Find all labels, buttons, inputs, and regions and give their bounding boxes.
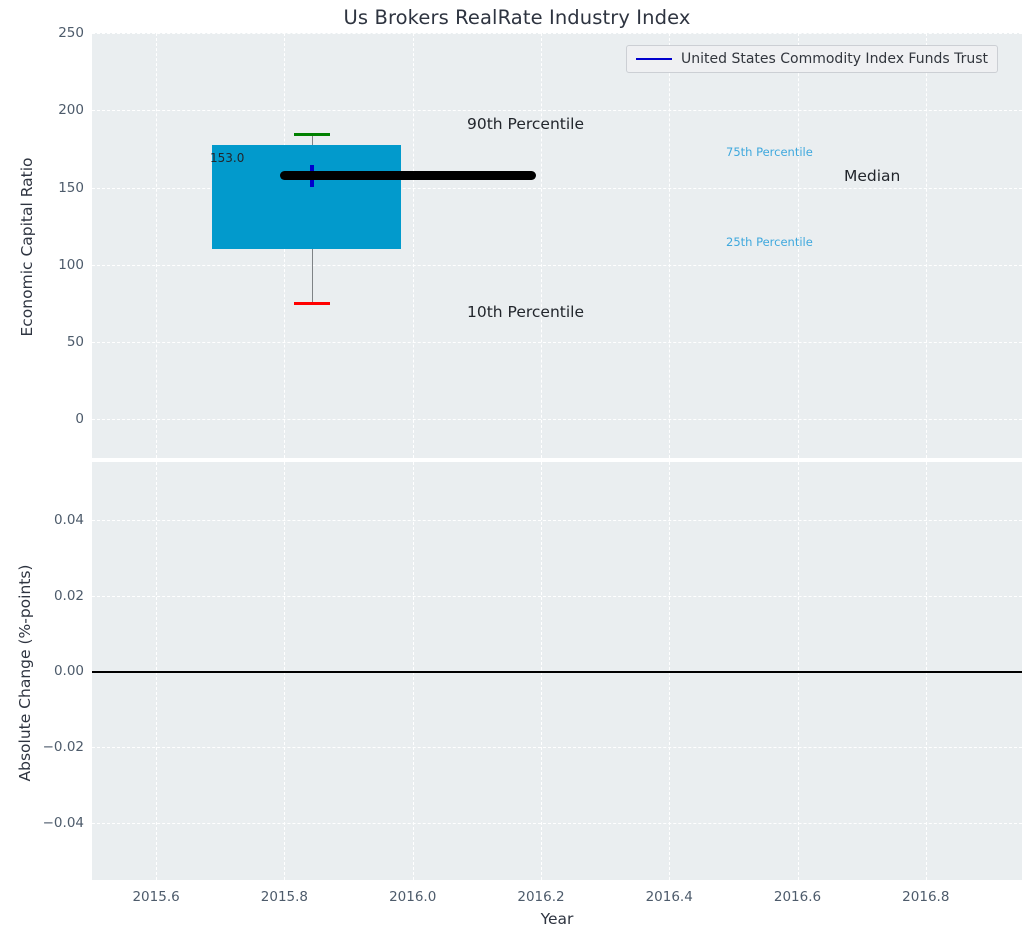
y-tick-label: 150 xyxy=(4,180,84,196)
x-tick-label: 2015.8 xyxy=(239,889,329,905)
y-tick-label: 0.04 xyxy=(4,512,84,528)
gridline-v xyxy=(926,33,927,458)
p25-label: 25th Percentile xyxy=(726,235,813,249)
y-tick-label: −0.04 xyxy=(4,815,84,831)
gridline-h xyxy=(92,419,1022,420)
zero-reference-line xyxy=(92,671,1022,673)
chart-title: Us Brokers RealRate Industry Index xyxy=(0,6,1034,29)
gridline-v xyxy=(541,33,542,458)
y-tick-label: 250 xyxy=(4,25,84,41)
x-tick-label: 2016.8 xyxy=(881,889,971,905)
gridline-h xyxy=(92,265,1022,266)
y-tick-label: 200 xyxy=(4,102,84,118)
legend-line-icon xyxy=(636,58,672,60)
median-label: Median xyxy=(844,167,900,185)
gridline-v xyxy=(669,33,670,458)
y-axis-top: 250 200 150 100 50 0 xyxy=(0,33,84,458)
gridline-h xyxy=(92,823,1022,824)
gridline-h xyxy=(92,110,1022,111)
y-tick-label: 0 xyxy=(4,411,84,427)
p75-label: 75th Percentile xyxy=(726,145,813,159)
gridline-v xyxy=(413,33,414,458)
y-axis-label-bottom: Absolute Change (%-points) xyxy=(16,533,34,813)
y-tick-label: 50 xyxy=(4,334,84,350)
gridline-h xyxy=(92,342,1022,343)
x-tick-label: 2016.4 xyxy=(624,889,714,905)
p90-label: 90th Percentile xyxy=(467,115,584,133)
x-tick-label: 2015.6 xyxy=(111,889,201,905)
value-label: 153.0 xyxy=(210,151,244,165)
p90-cap xyxy=(294,133,330,136)
panel-economic-capital-ratio: 153.0 90th Percentile 10th Percentile Me… xyxy=(92,33,1022,458)
gridline-h xyxy=(92,520,1022,521)
median-line xyxy=(280,171,536,180)
x-tick-label: 2016.0 xyxy=(368,889,458,905)
p10-cap xyxy=(294,302,330,305)
legend[interactable]: United States Commodity Index Funds Trus… xyxy=(626,45,998,73)
gridline-h xyxy=(92,596,1022,597)
chart-figure: Us Brokers RealRate Industry Index 153.0… xyxy=(0,0,1034,942)
gridline-v xyxy=(156,33,157,458)
y-axis-label-top: Economic Capital Ratio xyxy=(18,127,36,367)
x-axis-label: Year xyxy=(92,910,1022,928)
legend-item-label: United States Commodity Index Funds Trus… xyxy=(681,51,988,67)
gridline-h xyxy=(92,33,1022,34)
x-axis: 2015.6 2015.8 2016.0 2016.2 2016.4 2016.… xyxy=(92,889,1022,909)
x-tick-label: 2016.6 xyxy=(753,889,843,905)
x-tick-label: 2016.2 xyxy=(496,889,586,905)
p10-label: 10th Percentile xyxy=(467,303,584,321)
y-tick-label: 100 xyxy=(4,257,84,273)
gridline-h xyxy=(92,747,1022,748)
panel-absolute-change xyxy=(92,462,1022,880)
y-axis-bottom: 0.04 0.02 0.00 −0.02 −0.04 xyxy=(0,462,84,880)
